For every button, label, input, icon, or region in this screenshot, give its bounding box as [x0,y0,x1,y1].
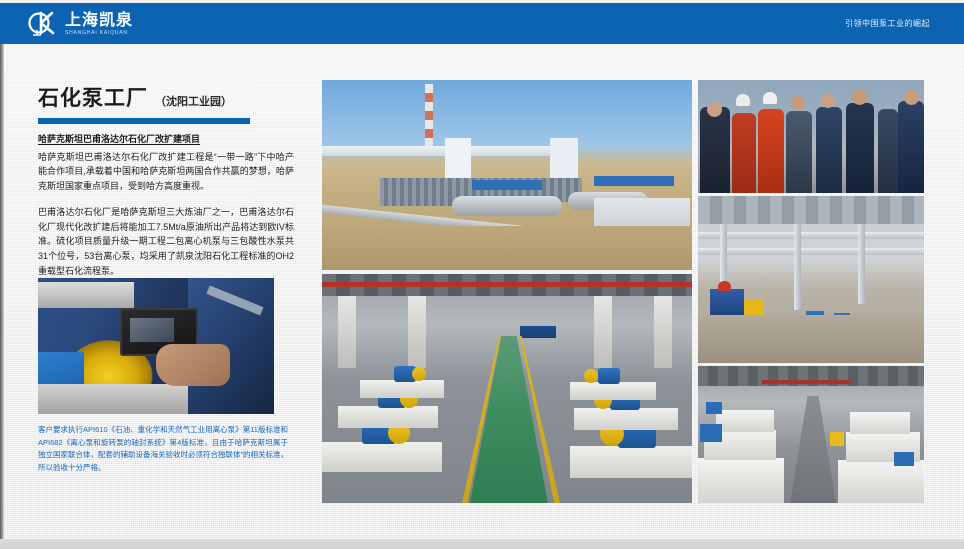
page-header: 上海凯泉 SHANGHAI KAIQUAN 引领中国泵工业的崛起 [0,3,964,44]
photo-blue-part-shape [706,402,722,414]
photo-head-shape [791,96,805,110]
photo-crane-rail-shape [322,282,692,287]
photo-person-shape [816,107,842,193]
project-lead-heading: 哈萨克斯坦巴甫洛达尔石化厂改扩建项目 [38,133,294,147]
photo-hardhat-shape [736,94,750,106]
photo-person-shape [758,109,784,193]
left-edge-shadow [0,44,4,539]
photo-pump-skid-shape [360,380,444,398]
photo-pipe-shape [38,282,134,308]
photo-pump-skid-shape [574,408,678,430]
photo-yellow-part-shape [830,432,844,446]
photo-head-shape [852,90,867,105]
brand-name-cn: 上海凯泉 [65,13,133,29]
photo-person-shape [732,113,756,193]
paragraph-two: 巴甫洛达尔石化厂是哈萨克斯坦三大炼油厂之一，巴甫洛达尔石化厂现代化改扩建后将能加… [38,205,294,278]
photo-mosaic [322,80,924,503]
brand-name-en: SHANGHAI KAIQUAN [65,31,133,36]
photo-yellow-cap-shape [584,369,598,383]
photo-ground-shape [322,226,692,270]
bottom-edge [0,539,964,549]
photo-person-shape [846,103,874,193]
kaiquan-circle-k-logo-icon [28,10,58,38]
photo-person-shape [786,111,812,193]
photo-pump-skid-shape [570,446,692,478]
photo-blue-roof-shape [472,180,542,190]
photo-packed-unit-shape [698,458,784,503]
photo-column-shape [794,224,801,310]
brand-logo[interactable]: 上海凯泉 SHANGHAI KAIQUAN [28,9,133,39]
photo-corridor-shape [790,396,836,503]
photo-person-shape [878,109,898,193]
photo-hardhat-shape [763,92,777,104]
photo-red-helmet-shape [718,281,731,291]
page-title-sub: （沈阳工业园） [155,93,232,109]
photo-pillar-shape [338,296,356,368]
photo-smokestack-shape [425,84,433,150]
photo-motor-shape [598,368,620,384]
photo-person-shape [700,107,730,193]
photo-pillar-shape [594,296,612,368]
photo-roof-beam-shape [698,196,924,224]
officials-site-visit-delegation-photo [698,80,924,193]
photo-blue-roof-shape [594,176,674,186]
photo-head-shape [821,94,835,108]
photo-pump-skid-shape [322,442,442,472]
photo-vessel-shape [452,196,562,216]
title-underline [38,118,250,124]
photo-pillar-shape [654,296,672,368]
photo-head-shape [707,102,722,117]
photo-blue-part-shape [894,452,914,466]
photo-hand-shape [156,344,230,386]
photo-packed-unit-shape [850,412,910,434]
photo-overhead-pipe-shape [698,248,924,255]
packaged-pump-units-warehouse-photo [698,366,924,503]
photo-wall-banner-shape [520,326,556,338]
photo-caption-text: 客户要求执行API610《石油、重化学和天然气工业用离心泵》第11版标准和API… [38,424,288,474]
photo-blue-part-shape [700,424,722,442]
pump-assembly-line-workshop-photo [322,274,692,503]
photo-pump-skid-shape [338,406,438,428]
slide-page: 上海凯泉 SHANGHAI KAIQUAN 引领中国泵工业的崛起 石化泵工厂 （… [0,0,964,549]
technician-testing-pump-coupling-photo [38,278,274,414]
photo-device-screen-shape [130,318,174,342]
page-title-main: 石化泵工厂 [38,82,148,112]
installed-pump-station-piping-photo [698,196,924,363]
photo-floor-shape [698,315,924,363]
photo-pillar-shape [408,296,426,368]
photo-yellow-cap-shape [412,367,426,381]
photo-overhead-pipe-shape [698,232,924,239]
header-tagline: 引领中国泵工业的崛起 [845,3,930,44]
photo-head-shape [904,90,919,105]
photo-red-beam-shape [762,380,852,384]
paragraph-one: 哈萨克斯坦巴甫洛达尔石化厂改扩建工程是“一带一路”下中哈产能合作项目,承载着中国… [38,150,294,194]
photo-column-shape [858,224,865,304]
photo-pump-skid-shape [570,382,656,400]
pavlodar-refinery-plant-photo [322,80,692,270]
photo-packed-unit-shape [716,410,774,432]
photo-person-shape [898,101,924,193]
photo-packed-unit-shape [838,460,924,503]
left-text-column: 石化泵工厂 （沈阳工业园） 哈萨克斯坦巴甫洛达尔石化厂改扩建项目 哈萨克斯坦巴甫… [38,82,294,278]
photo-base-shape [38,384,188,414]
page-title: 石化泵工厂 （沈阳工业园） [38,82,294,112]
